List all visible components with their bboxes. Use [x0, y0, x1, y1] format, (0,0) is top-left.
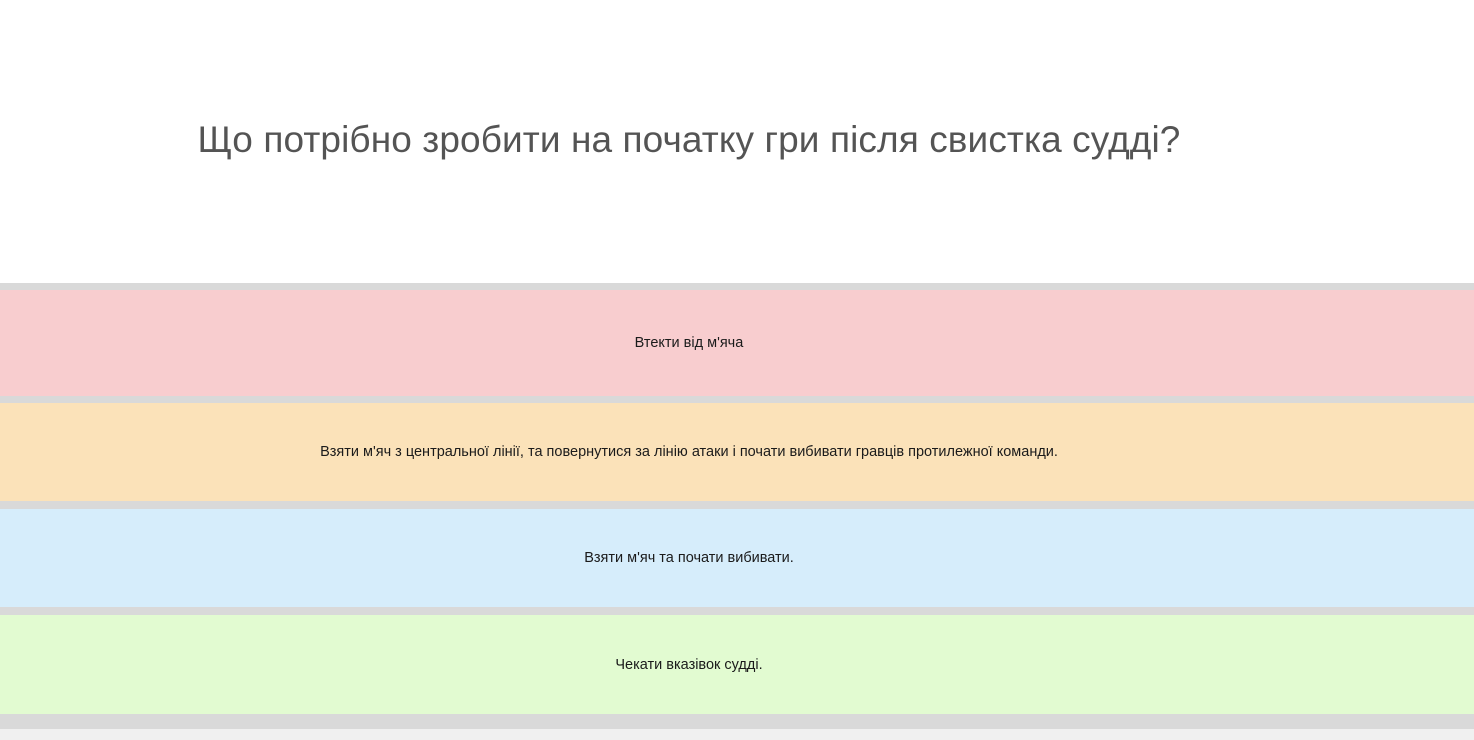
answer-options-list: Втекти від м'яча Взяти м'яч з центрально…: [0, 283, 1474, 729]
answer-option-label: Чекати вказівок судді.: [615, 655, 762, 675]
answer-separator: [0, 501, 1474, 509]
answer-option-2[interactable]: Взяти м'яч з центральної лінії, та повер…: [0, 403, 1474, 501]
answer-option-3[interactable]: Взяти м'яч та почати вибивати.: [0, 509, 1474, 607]
answer-separator: [0, 714, 1474, 729]
question-header: Що потрібно зробити на початку гри після…: [0, 0, 1474, 283]
answer-option-1[interactable]: Втекти від м'яча: [0, 290, 1474, 396]
answer-option-label: Втекти від м'яча: [635, 333, 744, 353]
question-title: Що потрібно зробити на початку гри після…: [198, 118, 1181, 162]
answer-option-label: Взяти м'яч з центральної лінії, та повер…: [320, 442, 1058, 462]
answer-separator: [0, 396, 1474, 403]
answer-separator: [0, 283, 1474, 290]
answer-option-4[interactable]: Чекати вказівок судді.: [0, 615, 1474, 714]
page-footer: [0, 729, 1474, 740]
answer-option-label: Взяти м'яч та почати вибивати.: [584, 548, 794, 568]
quiz-page: Що потрібно зробити на початку гри після…: [0, 0, 1474, 732]
answer-separator: [0, 607, 1474, 615]
